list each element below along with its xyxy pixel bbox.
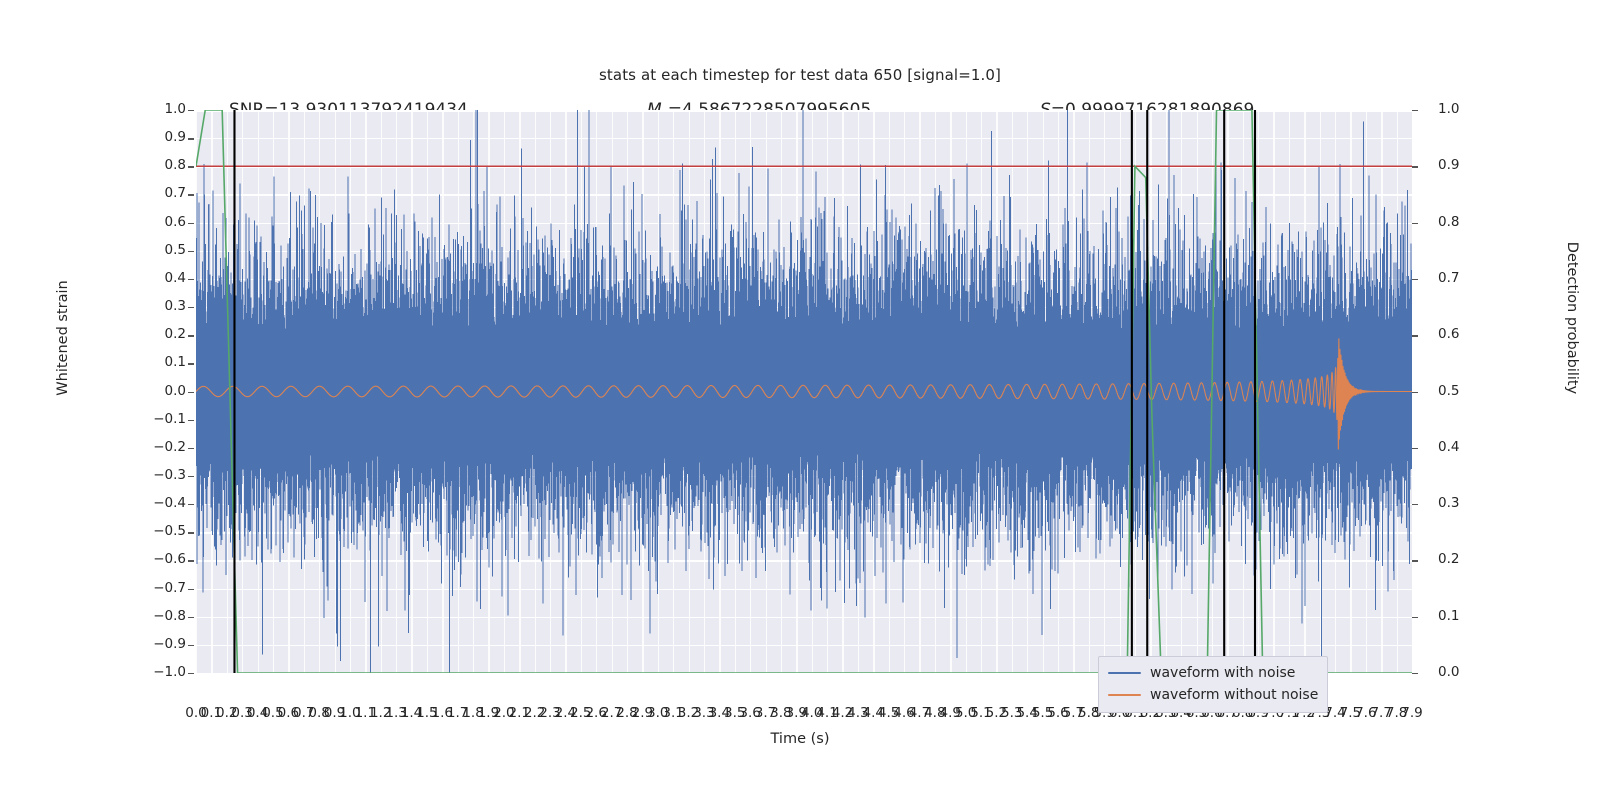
y-tick-left-3: 0.7	[140, 187, 186, 201]
y-tick-left-15: −0.5	[140, 525, 186, 539]
y-tick-mark-left-15	[188, 532, 194, 533]
y-tick-mark-left-9	[188, 363, 194, 364]
y-tick-left-7: 0.3	[140, 300, 186, 314]
chart-title: stats at each timestep for test data 650…	[0, 66, 1600, 84]
y-tick-mark-right-0	[1412, 110, 1418, 111]
y-tick-left-19: −0.9	[140, 638, 186, 652]
y-tick-mark-left-3	[188, 194, 194, 195]
legend[interactable]: waveform with noise waveform without noi…	[1098, 656, 1328, 713]
y-tick-mark-left-12	[188, 448, 194, 449]
y-tick-right-5: 0.5	[1438, 385, 1488, 399]
y-tick-mark-left-6	[188, 279, 194, 280]
y-tick-right-2: 0.8	[1438, 216, 1488, 230]
y-tick-right-10: 0.0	[1438, 666, 1488, 680]
y-tick-mark-left-19	[188, 645, 194, 646]
y-tick-left-10: 0.0	[140, 385, 186, 399]
legend-item-1[interactable]: waveform without noise	[1108, 684, 1318, 706]
y-tick-mark-left-18	[188, 617, 194, 618]
y-tick-mark-right-10	[1412, 673, 1418, 674]
y-tick-mark-right-5	[1412, 392, 1418, 393]
x-tick-79: 7.9	[1401, 705, 1422, 721]
y-tick-mark-left-7	[188, 307, 194, 308]
y-tick-left-0: 1.0	[140, 103, 186, 117]
y-tick-right-6: 0.4	[1438, 441, 1488, 455]
y-tick-mark-right-1	[1412, 166, 1418, 167]
legend-label-0: waveform with noise	[1150, 665, 1295, 681]
y-tick-left-14: −0.4	[140, 497, 186, 511]
y-tick-right-8: 0.2	[1438, 553, 1488, 567]
y-tick-mark-left-20	[188, 673, 194, 674]
y-axis-label-right: Detection probability	[1564, 178, 1580, 458]
y-tick-left-12: −0.2	[140, 441, 186, 455]
y-axis-label-left: Whitened strain	[55, 223, 71, 453]
y-tick-right-0: 1.0	[1438, 103, 1488, 117]
y-tick-mark-left-13	[188, 476, 194, 477]
y-tick-right-3: 0.7	[1438, 272, 1488, 286]
y-tick-mark-left-4	[188, 223, 194, 224]
y-tick-mark-right-8	[1412, 560, 1418, 561]
x-axis-label: Time (s)	[0, 731, 1600, 747]
figure-canvas: stats at each timestep for test data 650…	[0, 0, 1600, 800]
y-tick-mark-right-9	[1412, 617, 1418, 618]
y-tick-left-4: 0.6	[140, 216, 186, 230]
y-tick-mark-left-17	[188, 589, 194, 590]
y-tick-mark-left-11	[188, 420, 194, 421]
y-tick-mark-right-4	[1412, 335, 1418, 336]
y-tick-left-6: 0.4	[140, 272, 186, 286]
y-tick-left-1: 0.9	[140, 131, 186, 145]
y-tick-left-11: −0.1	[140, 413, 186, 427]
legend-swatch-waveform-with-noise	[1108, 672, 1141, 675]
y-tick-mark-left-2	[188, 166, 194, 167]
y-tick-mark-right-7	[1412, 504, 1418, 505]
y-tick-mark-left-0	[188, 110, 194, 111]
y-tick-left-2: 0.8	[140, 159, 186, 173]
y-tick-mark-right-3	[1412, 279, 1418, 280]
y-tick-mark-left-1	[188, 138, 194, 139]
legend-swatch-waveform-without-noise	[1108, 694, 1141, 697]
plot-area	[196, 110, 1412, 673]
y-tick-mark-right-6	[1412, 448, 1418, 449]
y-tick-left-9: 0.1	[140, 356, 186, 370]
y-tick-left-17: −0.7	[140, 582, 186, 596]
y-tick-left-8: 0.2	[140, 328, 186, 342]
y-tick-left-20: −1.0	[140, 666, 186, 680]
y-tick-mark-left-16	[188, 560, 194, 561]
legend-item-0[interactable]: waveform with noise	[1108, 662, 1318, 684]
y-tick-mark-right-2	[1412, 223, 1418, 224]
y-tick-left-5: 0.5	[140, 244, 186, 258]
y-tick-left-16: −0.6	[140, 553, 186, 567]
y-tick-left-18: −0.8	[140, 610, 186, 624]
y-tick-mark-left-14	[188, 504, 194, 505]
y-tick-left-13: −0.3	[140, 469, 186, 483]
series-detection-probability-and-markers	[196, 110, 1412, 673]
y-tick-right-9: 0.1	[1438, 610, 1488, 624]
y-tick-mark-left-5	[188, 251, 194, 252]
y-tick-right-4: 0.6	[1438, 328, 1488, 342]
y-tick-mark-left-10	[188, 392, 194, 393]
y-tick-right-1: 0.9	[1438, 159, 1488, 173]
legend-label-1: waveform without noise	[1150, 687, 1318, 703]
y-tick-right-7: 0.3	[1438, 497, 1488, 511]
y-tick-mark-left-8	[188, 335, 194, 336]
